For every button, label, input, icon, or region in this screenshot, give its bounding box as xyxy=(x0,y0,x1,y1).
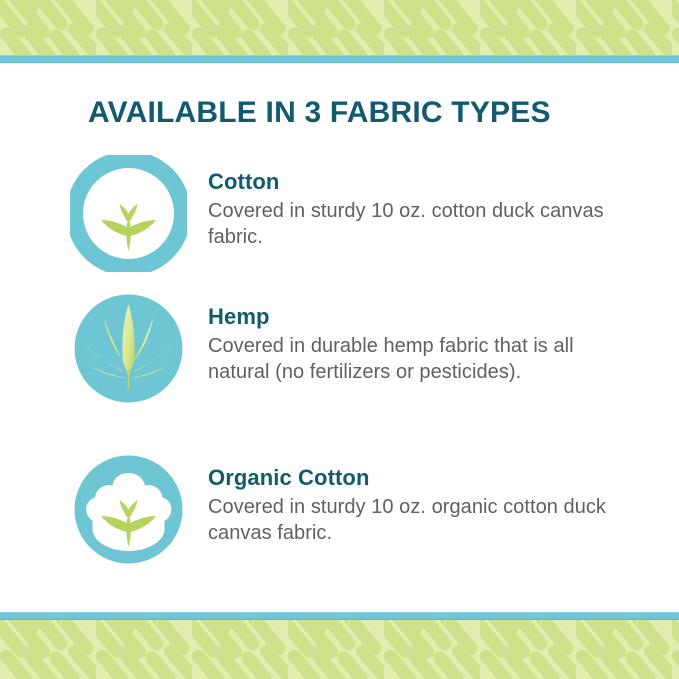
fabric-heading-organic-cotton: Organic Cotton xyxy=(208,465,633,490)
hemp-leaf-icon xyxy=(70,290,187,407)
fabric-item-organic-cotton: Organic Cotton Covered in sturdy 10 oz. … xyxy=(0,451,679,581)
page-title: AVAILABLE IN 3 FABRIC TYPES xyxy=(88,96,551,130)
fabric-text-organic-cotton: Organic Cotton Covered in sturdy 10 oz. … xyxy=(208,451,633,546)
fabric-item-hemp: Hemp Covered in durable hemp fabric that… xyxy=(0,290,679,451)
diagonal-capsule-stripes-icon xyxy=(0,0,679,55)
fabric-heading-hemp: Hemp xyxy=(208,304,633,329)
diagonal-capsule-stripes-icon xyxy=(0,620,679,679)
bottom-decorative-banner xyxy=(0,612,679,679)
fabric-description-hemp: Covered in durable hemp fabric that is a… xyxy=(208,334,633,385)
fabric-description-cotton: Covered in sturdy 10 oz. cotton duck can… xyxy=(208,199,633,250)
fabric-types-list: Cotton Covered in sturdy 10 oz. cotton d… xyxy=(0,155,679,581)
fabric-item-cotton: Cotton Covered in sturdy 10 oz. cotton d… xyxy=(0,155,679,290)
top-decorative-banner xyxy=(0,0,679,63)
top-teal-rule xyxy=(0,55,679,63)
fabric-text-cotton: Cotton Covered in sturdy 10 oz. cotton d… xyxy=(208,155,633,250)
cotton-boll-icon xyxy=(70,451,187,568)
fabric-heading-cotton: Cotton xyxy=(208,169,633,194)
cotton-boll-icon xyxy=(70,155,187,272)
top-banner-pattern xyxy=(0,0,679,55)
bottom-teal-rule xyxy=(0,612,679,620)
bottom-banner-pattern xyxy=(0,620,679,679)
fabric-description-organic-cotton: Covered in sturdy 10 oz. organic cotton … xyxy=(208,495,633,546)
fabric-text-hemp: Hemp Covered in durable hemp fabric that… xyxy=(208,290,633,385)
main-content: AVAILABLE IN 3 FABRIC TYPES xyxy=(0,63,679,612)
